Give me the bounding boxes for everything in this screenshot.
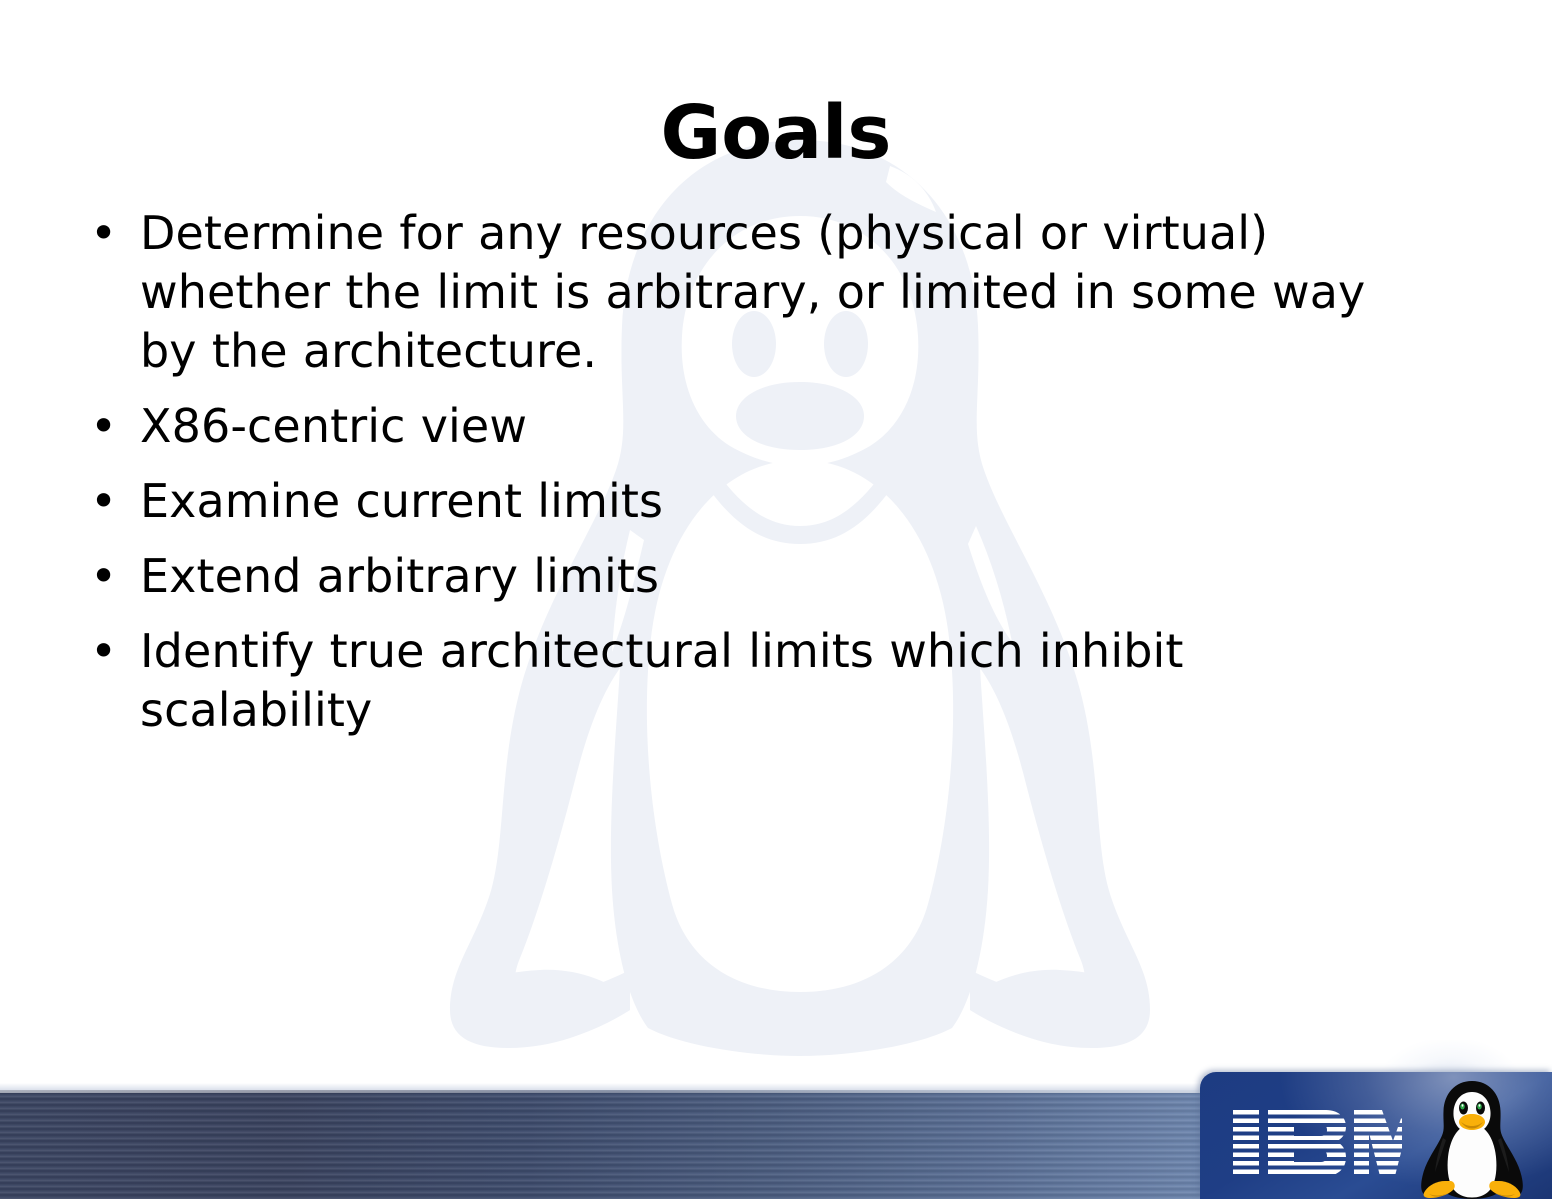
bullet-text: X86-centric view bbox=[140, 397, 1368, 456]
presentation-slide: Goals • Determine for any resources (phy… bbox=[0, 0, 1552, 1199]
bullet-text: Examine current limits bbox=[140, 472, 1368, 531]
bullet-text: Extend arbitrary limits bbox=[140, 547, 1368, 606]
tux-logo-icon bbox=[1412, 1078, 1532, 1199]
list-item: • Examine current limits bbox=[78, 472, 1368, 531]
slide-title: Goals bbox=[0, 96, 1552, 170]
ibm-wordmark-icon bbox=[1232, 1110, 1402, 1176]
list-item: • Determine for any resources (physical … bbox=[78, 204, 1368, 381]
bullet-marker-icon: • bbox=[78, 622, 140, 680]
bullet-marker-icon: • bbox=[78, 397, 140, 455]
list-item: • Identify true architectural limits whi… bbox=[78, 622, 1368, 740]
list-item: • Extend arbitrary limits bbox=[78, 547, 1368, 606]
bullet-text: Determine for any resources (physical or… bbox=[140, 204, 1368, 381]
slide-bullet-list: • Determine for any resources (physical … bbox=[78, 204, 1368, 756]
bullet-marker-icon: • bbox=[78, 204, 140, 262]
list-item: • X86-centric view bbox=[78, 397, 1368, 456]
ibm-logo-box bbox=[1200, 1072, 1552, 1199]
bullet-marker-icon: • bbox=[78, 472, 140, 530]
bullet-marker-icon: • bbox=[78, 547, 140, 605]
bullet-text: Identify true architectural limits which… bbox=[140, 622, 1368, 740]
